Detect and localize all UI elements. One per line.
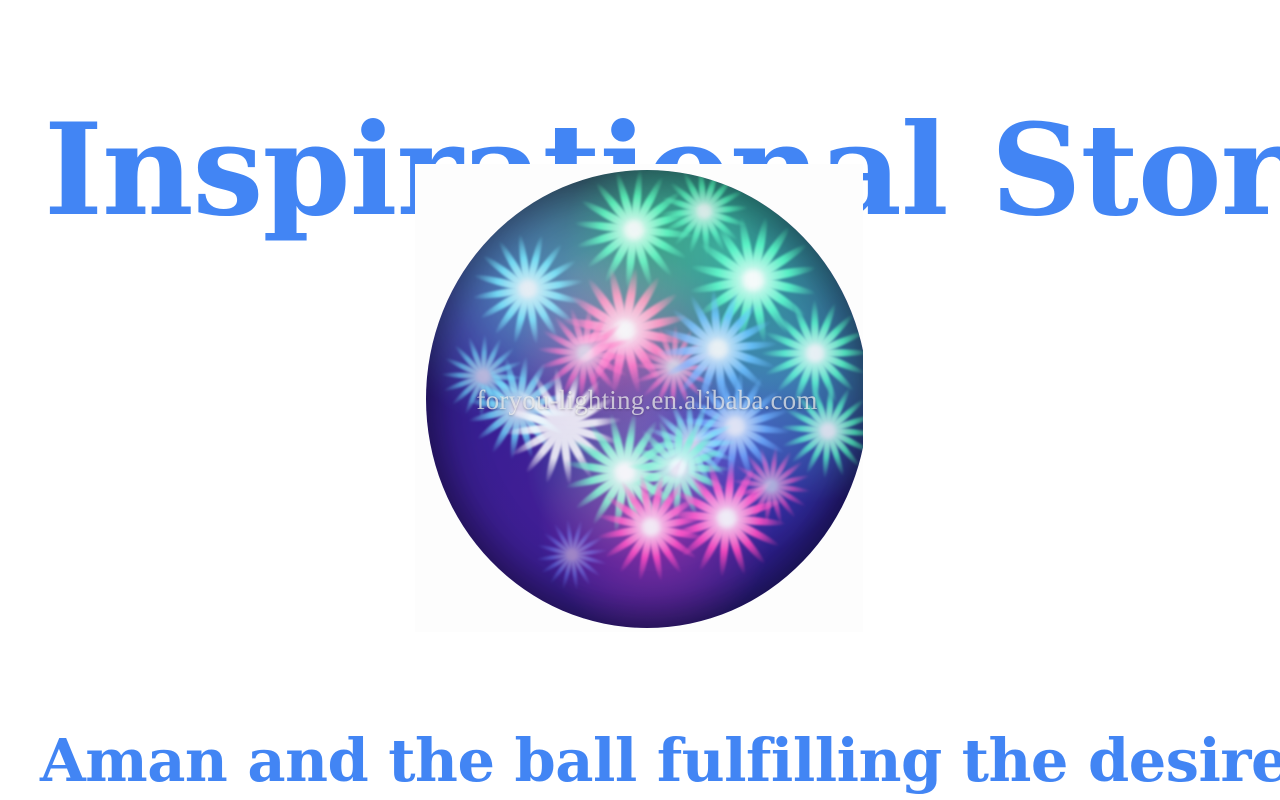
laser-star <box>596 472 706 582</box>
laser-star-core <box>706 337 730 361</box>
laser-star <box>645 399 737 491</box>
laser-star-core <box>475 368 492 385</box>
laser-star-core <box>613 460 637 484</box>
laser-star-core <box>640 516 662 538</box>
laser-star-core <box>576 344 595 363</box>
laser-star <box>537 305 633 401</box>
laser-star-core <box>668 457 689 478</box>
laser-star <box>679 370 791 482</box>
laser-star <box>536 519 608 591</box>
laser-star-core <box>682 436 700 454</box>
laser-star-core <box>508 398 529 419</box>
laser-star <box>472 233 584 345</box>
laser-star <box>504 367 622 485</box>
laser-star <box>731 446 811 526</box>
laser-star <box>626 416 730 520</box>
laser-star-core <box>612 318 638 344</box>
laser-star-core <box>740 267 766 293</box>
slide-canvas: Inspirational Story foryou-lighting.en.a… <box>0 0 1280 800</box>
laser-star <box>564 411 686 533</box>
laser-star-core <box>665 358 682 375</box>
laser-star-core <box>724 415 746 437</box>
laser-star <box>631 324 717 410</box>
product-image-frame: foryou-lighting.en.alibaba.com <box>415 164 863 632</box>
laser-star-core <box>551 415 575 439</box>
laser-star-core <box>763 478 779 494</box>
laser-star-core <box>565 548 579 562</box>
laser-star <box>660 170 748 255</box>
laser-star <box>658 289 778 409</box>
laser-star <box>441 334 525 418</box>
laser-star-core <box>715 506 739 530</box>
laser-star-core <box>804 342 826 364</box>
laser-star <box>574 170 694 290</box>
laser-star-core <box>516 278 538 300</box>
laser-star <box>761 299 863 407</box>
laser-star <box>668 459 786 577</box>
laser-star <box>467 356 571 460</box>
page-subtitle: Aman and the ball fulfilling the desire. <box>40 729 1250 794</box>
laser-star <box>689 216 817 344</box>
laser-star-core <box>622 218 646 242</box>
laser-star-core <box>696 202 714 220</box>
ball-star-layer <box>426 170 863 628</box>
laser-star <box>780 383 863 479</box>
led-ball-image: foryou-lighting.en.alibaba.com <box>426 170 863 628</box>
laser-star-core <box>819 421 838 440</box>
laser-star <box>561 266 689 394</box>
